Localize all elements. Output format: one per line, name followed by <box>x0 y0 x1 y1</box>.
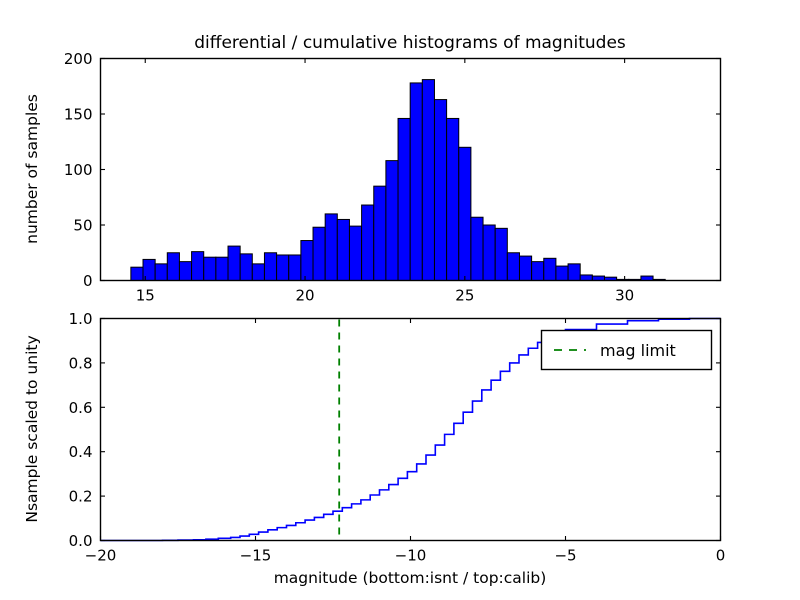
histogram-bar <box>386 161 398 281</box>
top-panel-ytick-label: 0 <box>83 272 93 290</box>
histogram-bar <box>410 83 422 281</box>
bottom-panel-xtick-label: −5 <box>554 547 576 565</box>
legend[interactable]: mag limit <box>542 331 712 370</box>
histogram-bar <box>422 80 434 281</box>
histogram-bar <box>192 252 204 281</box>
histogram-bar <box>131 267 143 280</box>
histogram-bar <box>167 253 179 281</box>
histogram-bar <box>204 257 216 280</box>
histogram-bar <box>519 256 531 280</box>
histogram-bar <box>495 228 507 280</box>
top-panel-ytick-label: 50 <box>73 217 92 235</box>
bottom-panel-xlabel: magnitude (bottom:isnt / top:calib) <box>274 569 547 587</box>
top-panel-xtick-label: 25 <box>455 287 474 305</box>
histogram-bar <box>228 246 240 280</box>
histogram-bar <box>325 214 337 281</box>
histogram-bar <box>507 253 519 281</box>
histogram-bar <box>277 255 289 281</box>
top-panel-xtick-label: 20 <box>295 287 314 305</box>
histogram-bar <box>398 118 410 280</box>
histogram-bar <box>556 266 568 280</box>
top-panel-ytick-label: 100 <box>64 161 93 179</box>
histogram-bar <box>568 264 580 281</box>
bottom-panel-xtick-label: 0 <box>716 547 726 565</box>
top-panel-ylabel: number of samples <box>23 94 41 244</box>
page-title: differential / cumulative histograms of … <box>194 33 626 53</box>
histogram-bar <box>447 118 459 280</box>
histogram-bar <box>362 205 374 280</box>
legend-label-mag-limit: mag limit <box>600 341 676 360</box>
histogram-bar <box>301 241 313 281</box>
histogram-bar <box>374 186 386 280</box>
histogram-bar <box>337 219 349 280</box>
histogram-bar <box>349 226 361 280</box>
bottom-panel-ytick-label: 0.0 <box>69 532 93 550</box>
top-panel-xtick-label: 15 <box>136 287 155 305</box>
histogram-bar <box>240 254 252 281</box>
top-panel-ytick-label: 200 <box>64 50 93 68</box>
histogram-bar <box>264 253 276 281</box>
top-panel-ytick-label: 150 <box>64 106 93 124</box>
histogram-bar <box>580 275 592 281</box>
bottom-panel-ytick-label: 0.4 <box>69 443 93 461</box>
histogram-bar <box>434 100 446 281</box>
figure-canvas: differential / cumulative histograms of … <box>0 0 800 600</box>
histogram-bar <box>313 227 325 280</box>
histogram-bar <box>289 255 301 281</box>
histogram-bar <box>471 217 483 280</box>
bottom-panel-ylabel: Nsample scaled to unity <box>23 335 41 522</box>
bottom-panel-ytick-label: 1.0 <box>69 310 93 328</box>
histogram-bar <box>252 264 264 281</box>
bottom-panel-xtick-label: −10 <box>395 547 427 565</box>
bottom-panel-ytick-label: 0.6 <box>69 399 93 417</box>
bottom-panel-ytick-label: 0.2 <box>69 488 93 506</box>
figure-background <box>0 0 800 600</box>
bottom-panel-xtick-label: −15 <box>240 547 272 565</box>
bottom-panel-ytick-label: 0.8 <box>69 354 93 372</box>
histogram-bar <box>544 258 556 280</box>
top-panel-xtick-label: 30 <box>615 287 634 305</box>
histogram-bar <box>179 262 191 281</box>
histogram-bar <box>532 262 544 281</box>
histogram-bar <box>483 225 495 281</box>
histogram-bar <box>459 147 471 280</box>
histogram-bar <box>155 264 167 281</box>
histogram-bar <box>216 257 228 280</box>
